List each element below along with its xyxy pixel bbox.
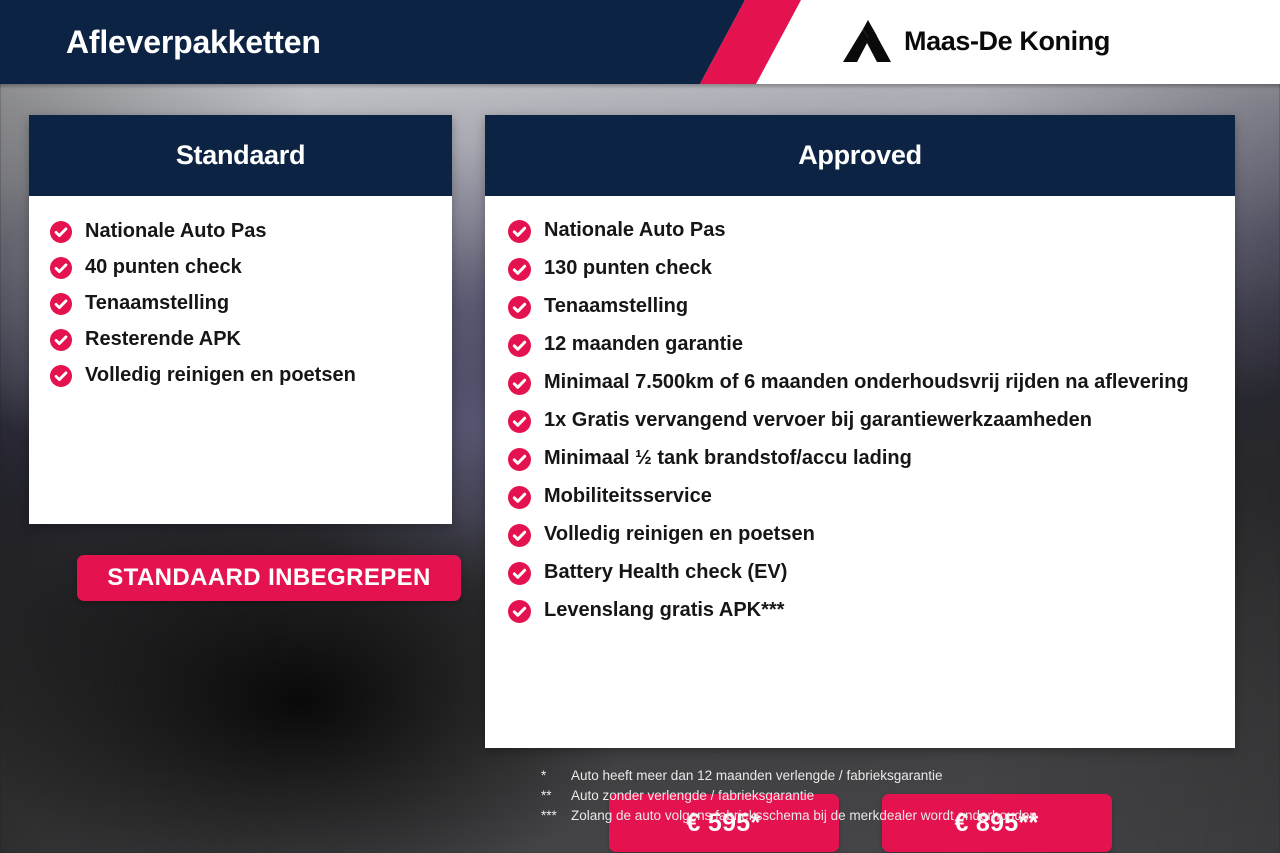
feature-item: Tenaamstelling bbox=[50, 292, 452, 315]
feature-item: Nationale Auto Pas bbox=[508, 218, 1235, 243]
feature-label: Nationale Auto Pas bbox=[85, 220, 267, 243]
afleverpakketten-promo-page: Afleverpakketten Maas-De Koning Standaar… bbox=[0, 0, 1280, 853]
feature-label: 40 punten check bbox=[85, 256, 242, 279]
check-icon bbox=[508, 296, 531, 319]
feature-item: Volledig reinigen en poetsen bbox=[50, 364, 452, 387]
check-icon bbox=[508, 486, 531, 509]
feature-item: 12 maanden garantie bbox=[508, 332, 1235, 357]
feature-item: Minimaal 7.500km of 6 maanden onderhouds… bbox=[508, 370, 1235, 395]
check-icon bbox=[508, 448, 531, 471]
footnote: **Auto zonder verlengde / fabrieksgarant… bbox=[541, 786, 1241, 806]
check-circle-icon bbox=[508, 372, 531, 395]
check-icon bbox=[508, 600, 531, 623]
footnote-text: Auto zonder verlengde / fabrieksgarantie bbox=[571, 786, 814, 806]
feature-label: Tenaamstelling bbox=[544, 294, 688, 318]
page-header: Afleverpakketten Maas-De Koning bbox=[0, 0, 1280, 84]
feature-item: Resterende APK bbox=[50, 328, 452, 351]
check-icon bbox=[508, 410, 531, 433]
footnotes-block: *Auto heeft meer dan 12 maanden verlengd… bbox=[541, 766, 1241, 826]
check-circle-icon bbox=[508, 410, 531, 433]
card-header-approved: Approved bbox=[485, 115, 1235, 196]
check-icon bbox=[50, 293, 72, 315]
check-icon bbox=[508, 334, 531, 357]
feature-item: Volledig reinigen en poetsen bbox=[508, 522, 1235, 547]
header-drop-shadow bbox=[0, 84, 1280, 89]
check-icon bbox=[50, 329, 72, 351]
feature-label: Minimaal ½ tank brandstof/accu lading bbox=[544, 446, 912, 470]
check-circle-icon bbox=[508, 562, 531, 585]
feature-label: Battery Health check (EV) bbox=[544, 560, 787, 584]
feature-item: Nationale Auto Pas bbox=[50, 220, 452, 243]
feature-label: Tenaamstelling bbox=[85, 292, 229, 315]
feature-label: Resterende APK bbox=[85, 328, 241, 351]
feature-label: Minimaal 7.500km of 6 maanden onderhouds… bbox=[544, 370, 1189, 394]
check-icon bbox=[50, 257, 72, 279]
package-card-standaard: Standaard Nationale Auto Pas40 punten ch… bbox=[29, 115, 452, 524]
check-circle-icon bbox=[508, 258, 531, 281]
check-circle-icon bbox=[508, 220, 531, 243]
footnote-text: Auto heeft meer dan 12 maanden verlengde… bbox=[571, 766, 943, 786]
check-icon bbox=[508, 220, 531, 243]
feature-list-approved: Nationale Auto Pas130 punten checkTenaam… bbox=[508, 218, 1235, 623]
feature-label: Volledig reinigen en poetsen bbox=[85, 364, 356, 387]
check-circle-icon bbox=[50, 221, 72, 243]
feature-label: Volledig reinigen en poetsen bbox=[544, 522, 815, 546]
check-icon bbox=[50, 365, 72, 387]
brand-logo: Maas-De Koning bbox=[843, 20, 1110, 62]
feature-item: Levenslang gratis APK*** bbox=[508, 598, 1235, 623]
page-title: Afleverpakketten bbox=[66, 21, 321, 63]
check-circle-icon bbox=[50, 329, 72, 351]
check-icon bbox=[508, 258, 531, 281]
card-title-standaard: Standaard bbox=[176, 140, 305, 171]
card-header-standaard: Standaard bbox=[29, 115, 452, 196]
check-circle-icon bbox=[50, 365, 72, 387]
check-circle-icon bbox=[508, 524, 531, 547]
feature-item: Mobiliteitsservice bbox=[508, 484, 1235, 509]
feature-label: 12 maanden garantie bbox=[544, 332, 743, 356]
feature-label: Mobiliteitsservice bbox=[544, 484, 712, 508]
feature-item: 130 punten check bbox=[508, 256, 1235, 281]
footnote-text: Zolang de auto volgens fabrieksschema bi… bbox=[571, 806, 1037, 826]
check-circle-icon bbox=[508, 600, 531, 623]
check-circle-icon bbox=[508, 296, 531, 319]
feature-label: 130 punten check bbox=[544, 256, 712, 280]
feature-item: 1x Gratis vervangend vervoer bij garanti… bbox=[508, 408, 1235, 433]
footnote: *Auto heeft meer dan 12 maanden verlengd… bbox=[541, 766, 1241, 786]
check-icon bbox=[508, 524, 531, 547]
standaard-included-button[interactable]: STANDAARD INBEGREPEN bbox=[77, 555, 461, 601]
card-title-approved: Approved bbox=[798, 140, 922, 171]
feature-label: 1x Gratis vervangend vervoer bij garanti… bbox=[544, 408, 1092, 432]
check-circle-icon bbox=[50, 293, 72, 315]
maas-de-koning-m-logo-icon bbox=[843, 20, 891, 62]
check-circle-icon bbox=[508, 486, 531, 509]
check-circle-icon bbox=[508, 334, 531, 357]
package-card-approved: Approved Nationale Auto Pas130 punten ch… bbox=[485, 115, 1235, 748]
check-icon bbox=[508, 372, 531, 395]
check-circle-icon bbox=[508, 448, 531, 471]
feature-label: Nationale Auto Pas bbox=[544, 218, 726, 242]
brand-name: Maas-De Koning bbox=[904, 26, 1110, 57]
feature-item: Tenaamstelling bbox=[508, 294, 1235, 319]
footnote-marker: *** bbox=[541, 806, 571, 826]
feature-item: Battery Health check (EV) bbox=[508, 560, 1235, 585]
check-circle-icon bbox=[50, 257, 72, 279]
check-icon bbox=[50, 221, 72, 243]
feature-list-standaard: Nationale Auto Pas40 punten checkTenaams… bbox=[50, 220, 452, 387]
footnote-marker: ** bbox=[541, 786, 571, 806]
check-icon bbox=[508, 562, 531, 585]
feature-item: 40 punten check bbox=[50, 256, 452, 279]
footnote-marker: * bbox=[541, 766, 571, 786]
feature-item: Minimaal ½ tank brandstof/accu lading bbox=[508, 446, 1235, 471]
feature-label: Levenslang gratis APK*** bbox=[544, 598, 784, 622]
footnote: ***Zolang de auto volgens fabrieksschema… bbox=[541, 806, 1241, 826]
